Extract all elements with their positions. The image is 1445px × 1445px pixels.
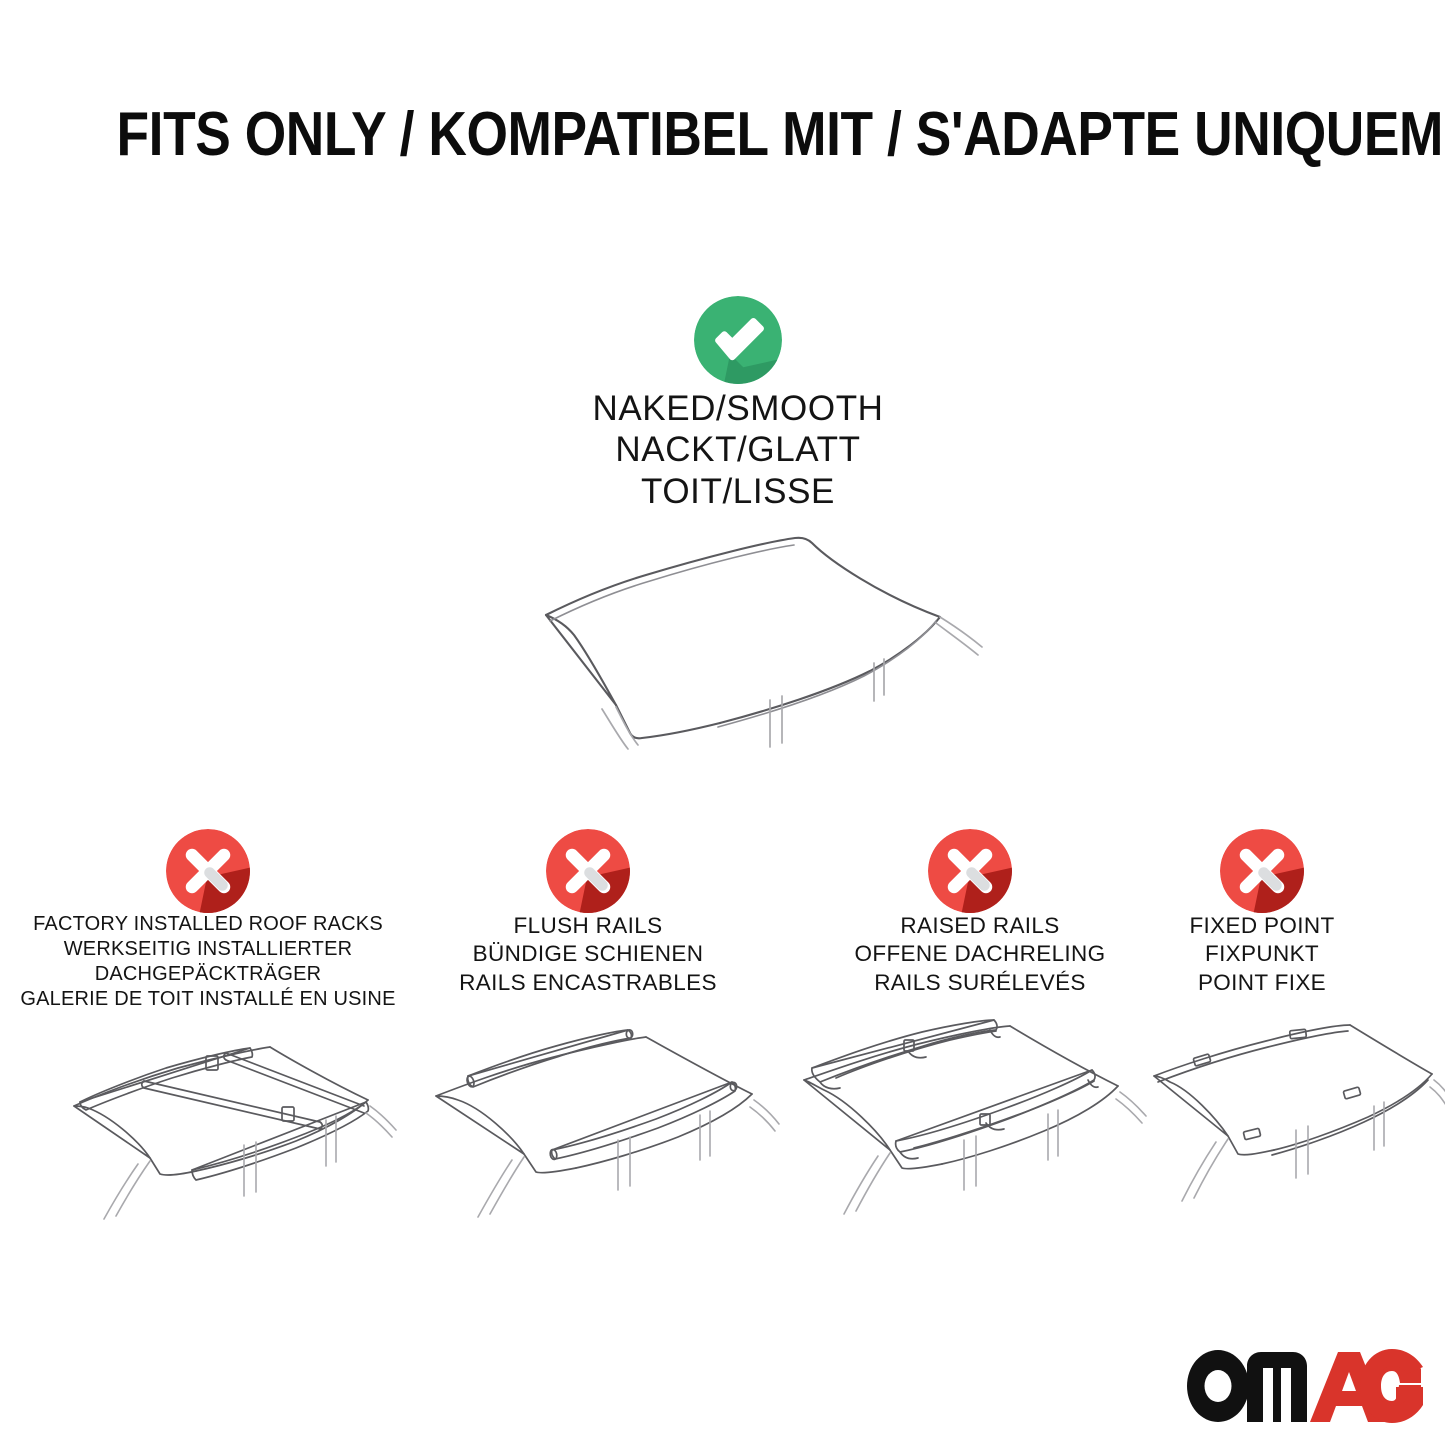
incompatible-4-line-1: FIXED POINT [1112, 912, 1412, 940]
cross-circle-icon [546, 829, 630, 913]
cross-circle-icon [928, 829, 1012, 913]
incompatible-1-line-3: DACHGEPÄCKTRÄGER [8, 962, 408, 987]
illustration-bare-smooth-car-roof [470, 495, 1010, 750]
illustration-car-roof-with-flush-rails [420, 1018, 780, 1223]
incompatible-2-line-2: BÜNDIGE SCHIENEN [408, 940, 768, 968]
illustration-car-roof-with-factory-rack-and-crossbars [38, 1018, 398, 1223]
incompatible-caption-4: FIXED POINT FIXPUNKT POINT FIXE [1112, 912, 1412, 997]
incompatible-caption-1: FACTORY INSTALLED ROOF RACKS WERKSEITIG … [8, 912, 408, 1012]
page-title-text: FITS ONLY / KOMPATIBEL MIT / S'ADAPTE UN… [117, 104, 1445, 166]
page-title: FITS ONLY / KOMPATIBEL MIT / S'ADAPTE UN… [0, 104, 1445, 166]
incompatible-caption-2: FLUSH RAILS BÜNDIGE SCHIENEN RAILS ENCAS… [408, 912, 768, 997]
incompatible-4-line-2: FIXPUNKT [1112, 940, 1412, 968]
incompatible-1-line-4: GALERIE DE TOIT INSTALLÉ EN USINE [8, 987, 408, 1012]
omac-logo [1185, 1349, 1423, 1423]
incompatible-2-line-3: RAILS ENCASTRABLES [408, 969, 768, 997]
compatibility-infographic: FITS ONLY / KOMPATIBEL MIT / S'ADAPTE UN… [0, 0, 1445, 1445]
cross-circle-icon [1220, 829, 1304, 913]
incompatible-2-line-1: FLUSH RAILS [408, 912, 768, 940]
incompatible-4-line-3: POINT FIXE [1112, 969, 1412, 997]
incompatible-1-line-2: WERKSEITIG INSTALLIERTER [8, 937, 408, 962]
compatible-caption: NAKED/SMOOTH NACKT/GLATT TOIT/LISSE [438, 388, 1038, 512]
cross-circle-icon [166, 829, 250, 913]
compatible-line-2: NACKT/GLATT [438, 429, 1038, 470]
incompatible-1-line-1: FACTORY INSTALLED ROOF RACKS [8, 912, 408, 937]
check-circle-icon [694, 296, 782, 384]
compatible-line-1: NAKED/SMOOTH [438, 388, 1038, 429]
illustration-car-roof-with-fixed-points [1140, 1018, 1445, 1223]
illustration-car-roof-with-raised-rails [790, 1018, 1150, 1223]
